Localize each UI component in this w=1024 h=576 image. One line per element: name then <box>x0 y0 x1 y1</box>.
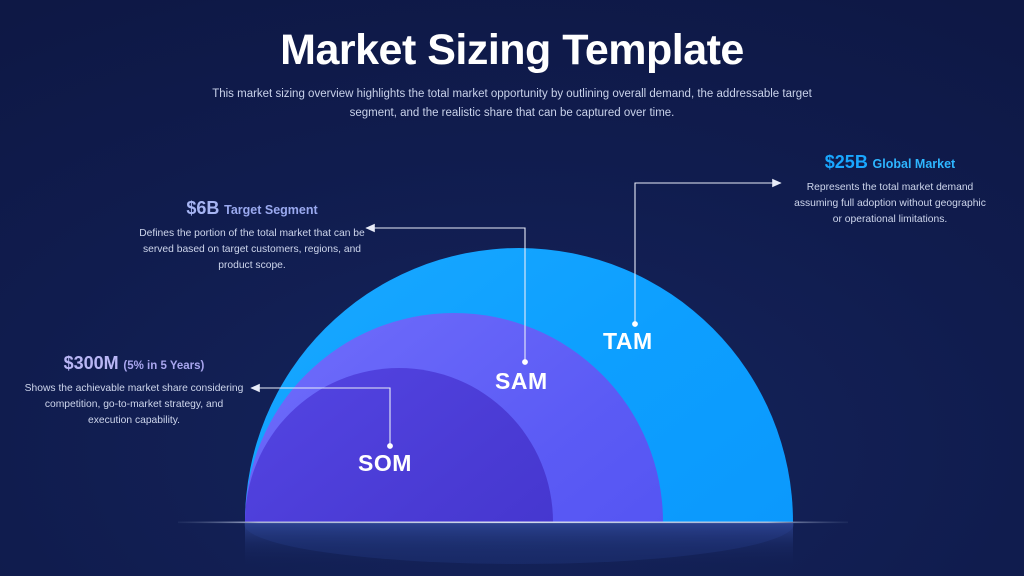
som-connector <box>251 388 393 449</box>
arch-sam <box>245 313 663 576</box>
callout-tam-description: Represents the total market demand assum… <box>790 180 990 228</box>
callout-tam-headline: $25B Global Market <box>790 152 990 173</box>
page-subtitle: This market sizing overview highlights t… <box>212 85 812 123</box>
slide-canvas: Market Sizing Template This market sizin… <box>0 0 1024 576</box>
baseline-rule <box>178 522 848 524</box>
page-title: Market Sizing Template <box>0 26 1024 75</box>
callout-som-amount: $300M <box>64 353 119 373</box>
arch-tam <box>245 248 793 576</box>
callout-som-tag: (5% in 5 Years) <box>123 360 204 372</box>
callout-tam-amount: $25B <box>825 152 868 172</box>
callout-som-description: Shows the achievable market share consid… <box>22 381 246 429</box>
callout-sam-headline: $6B Target Segment <box>138 198 366 219</box>
callout-sam-description: Defines the portion of the total market … <box>138 226 366 274</box>
callout-sam-amount: $6B <box>186 198 219 218</box>
arch-label-tam: TAM <box>603 328 653 355</box>
arch-label-som: SOM <box>358 450 412 477</box>
callout-tam: $25B Global Market Represents the total … <box>790 152 990 228</box>
arch-label-sam: SAM <box>495 368 548 395</box>
callout-som: $300M (5% in 5 Years) Shows the achievab… <box>22 353 246 429</box>
callout-sam: $6B Target Segment Defines the portion o… <box>138 198 366 274</box>
callout-sam-tag: Target Segment <box>224 203 318 217</box>
sam-connector <box>366 228 528 365</box>
callout-som-headline: $300M (5% in 5 Years) <box>22 353 246 374</box>
arch-reflection <box>244 484 794 571</box>
tam-connector <box>632 183 781 327</box>
callout-tam-tag: Global Market <box>873 157 956 171</box>
